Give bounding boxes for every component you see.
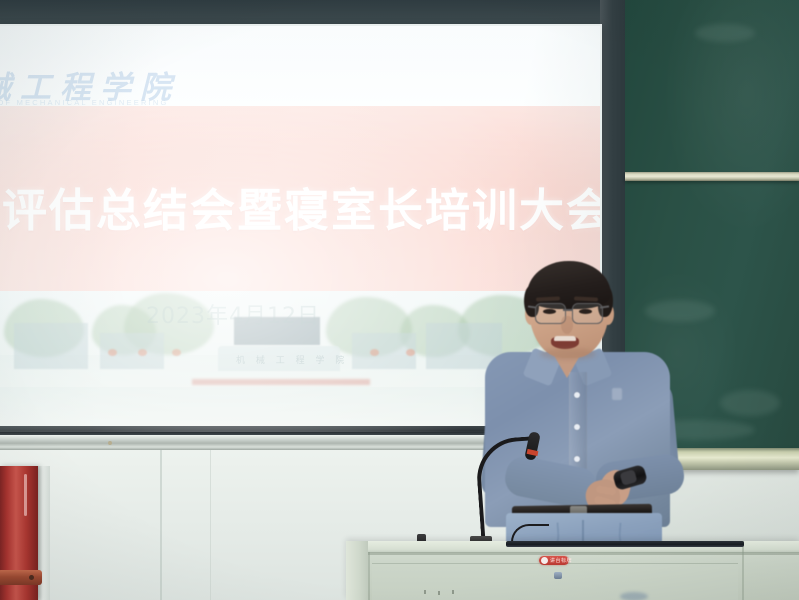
podium-dark-edge-strip <box>506 541 744 547</box>
screen-bottom-bar <box>0 426 602 435</box>
photo-red-banner <box>192 379 370 385</box>
pipe-clamp-bolt <box>29 575 34 580</box>
green-chalkboard <box>625 0 799 470</box>
chalk-smudge <box>720 390 780 416</box>
podium-left-side-panel <box>346 541 368 600</box>
rail-screw <box>108 441 112 445</box>
pipe-clamp <box>0 570 42 585</box>
chalk-smudge <box>635 420 755 440</box>
slide-header-area: 械工程学院 GE OF MECHANICAL ENGINEERING <box>0 26 600 106</box>
chalkboard-chalk-tray <box>620 448 799 470</box>
pipe-highlight <box>24 474 27 516</box>
projected-slide: 械工程学院 GE OF MECHANICAL ENGINEERING 评估总结会… <box>0 26 600 432</box>
wall-seam <box>210 450 211 600</box>
photo-lantern <box>370 349 379 356</box>
podium-reflection <box>620 592 648 600</box>
photo-gate-wing <box>14 323 88 369</box>
podium-left-seam <box>368 552 370 600</box>
photo-lantern <box>108 349 117 356</box>
podium-badge-mark <box>541 557 548 564</box>
slide-title-text: 评估总结会暨寝室长培训大会 <box>2 174 592 239</box>
podium-cabinet-lock[interactable] <box>554 572 562 579</box>
photo-tree <box>536 307 598 357</box>
slide-date-text: 2023年4月12日 <box>146 298 320 330</box>
photo-lantern <box>406 349 415 356</box>
podium-mark <box>452 590 454 594</box>
podium-right-seam <box>742 541 744 600</box>
photo-lantern <box>172 349 181 356</box>
wall-seam <box>160 450 162 600</box>
podium-front-panel <box>372 563 738 600</box>
ceiling-shadow-strip <box>0 0 640 26</box>
photo-gate-wall-text: 机 械 工 程 学 院 <box>236 353 348 366</box>
podium-lip-line <box>346 552 799 555</box>
podium-mark <box>438 591 440 595</box>
photo-lantern <box>138 349 147 356</box>
chalk-smudge <box>645 300 715 322</box>
photo-gate-wing <box>426 323 502 369</box>
chalk-smudge <box>695 24 755 42</box>
lecture-photo-scene: 械工程学院 GE OF MECHANICAL ENGINEERING 评估总结会… <box>0 0 799 600</box>
podium-mark <box>424 590 426 594</box>
podium-badge-text: 讲台标牌 <box>550 557 570 564</box>
chalkboard-middle-rail <box>625 172 799 181</box>
